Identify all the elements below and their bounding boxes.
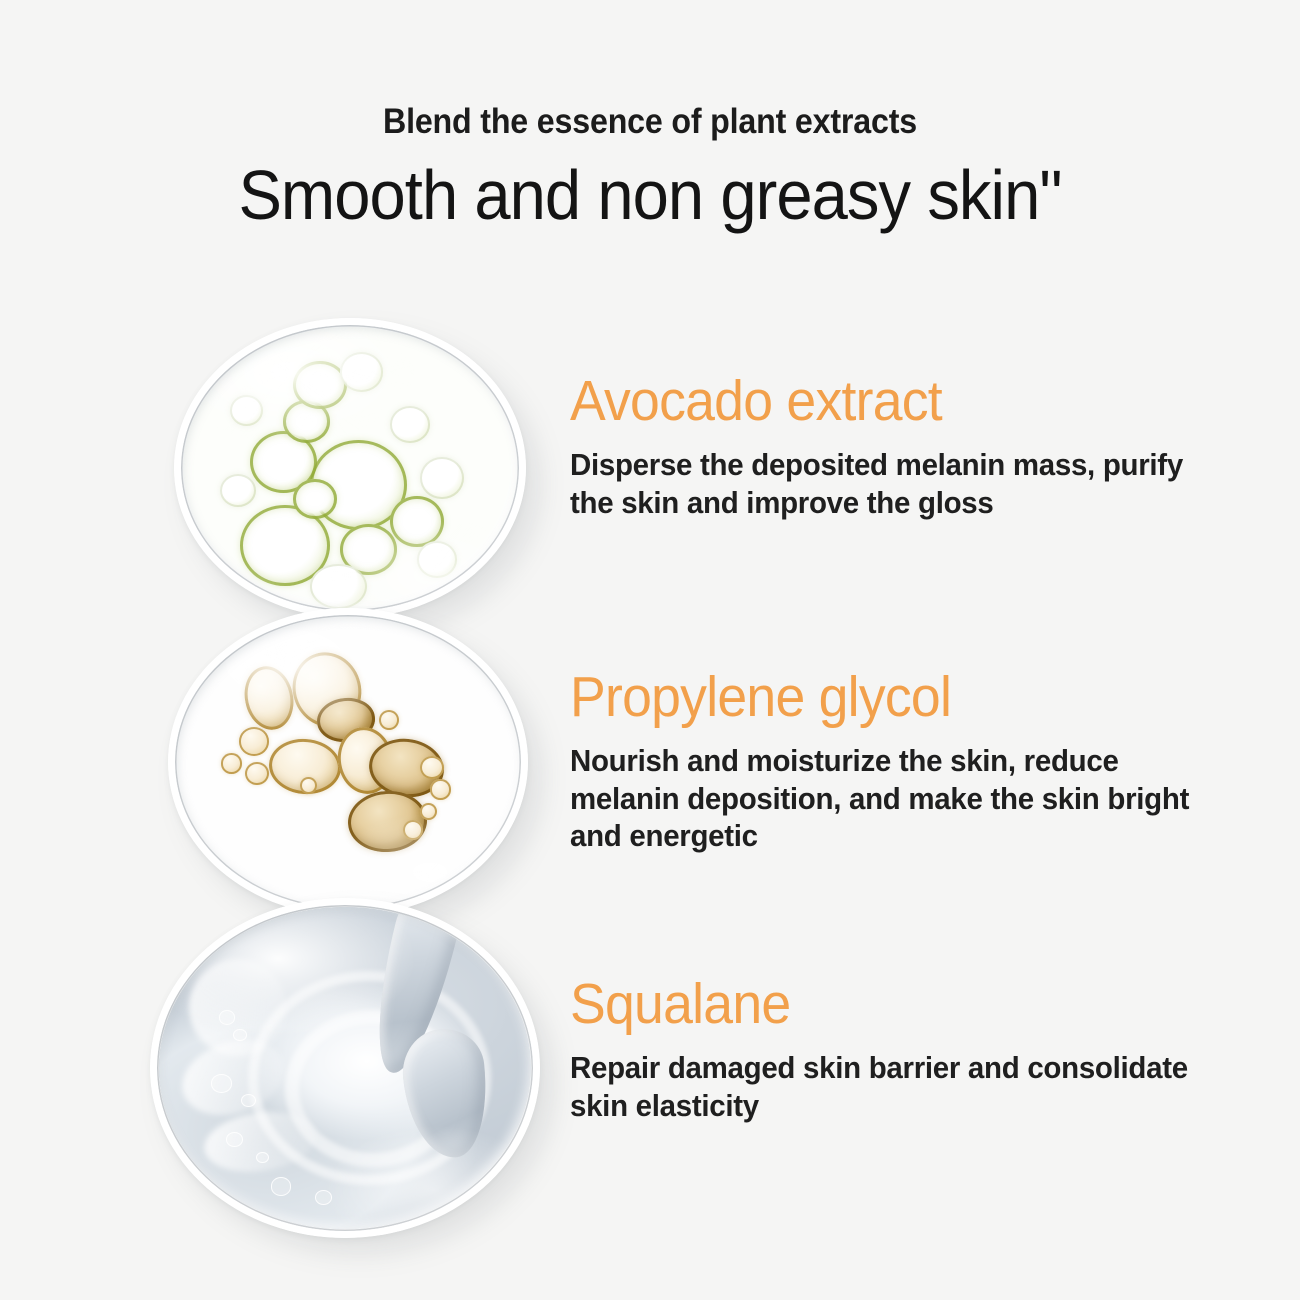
- ingredient-title-squalane: Squalane: [570, 975, 1190, 1035]
- page-title: Smooth and non greasy skin": [46, 158, 1255, 234]
- ingredient-block-squalane: Squalane Repair damaged skin barrier and…: [570, 975, 1230, 1124]
- ingredient-title-avocado: Avocado extract: [570, 372, 1190, 432]
- ingredient-description-squalane: Repair damaged skin barrier and consolid…: [570, 1049, 1197, 1125]
- dish-inner-squalane: [159, 907, 531, 1229]
- ingredient-description-glycol: Nourish and moisturize the skin, reduce …: [570, 742, 1197, 855]
- petri-dish-squalane: [150, 898, 540, 1238]
- page-subtitle: Blend the essence of plant extracts: [52, 103, 1248, 142]
- ingredient-block-avocado: Avocado extract Disperse the deposited m…: [570, 372, 1230, 521]
- ingredient-title-glycol: Propylene glycol: [570, 668, 1190, 728]
- glycol-oil-field: [177, 617, 519, 907]
- petri-dish-glycol: [168, 608, 528, 916]
- squalane-gel-field: [159, 907, 531, 1229]
- petri-dish-avocado: [174, 318, 526, 618]
- dish-inner-glycol: [177, 617, 519, 907]
- ingredient-dish-stack: [150, 318, 550, 1238]
- ingredient-block-glycol: Propylene glycol Nourish and moisturize …: [570, 668, 1230, 855]
- dish-inner-avocado: [183, 327, 517, 609]
- avocado-bubble-field: [183, 327, 517, 609]
- page-header: Blend the essence of plant extracts Smoo…: [0, 0, 1300, 233]
- ingredient-description-avocado: Disperse the deposited melanin mass, pur…: [570, 446, 1197, 522]
